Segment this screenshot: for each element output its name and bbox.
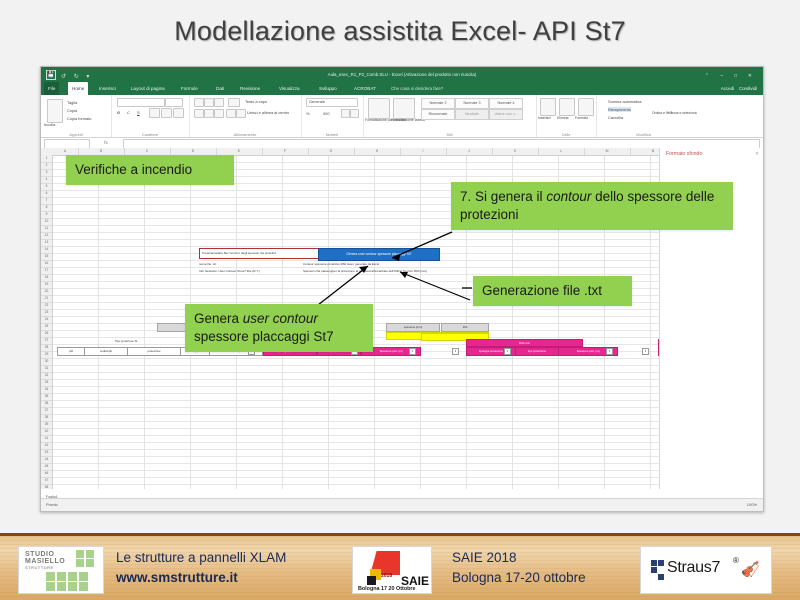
table-header-codice[interactable]: codice/pb	[84, 347, 128, 356]
decrease-indent-icon[interactable]	[226, 109, 236, 118]
group-label-modifica: Modifica	[596, 132, 691, 137]
sort-filter-icon[interactable]	[658, 98, 668, 108]
straus7-block-4	[658, 574, 664, 580]
ribbon-group-allineamento: Testo a capo Unisci e allinea al centro …	[189, 95, 302, 137]
insert-cells-icon[interactable]	[540, 98, 556, 116]
style-normale-3[interactable]: Normale 3	[455, 98, 489, 109]
bold-button[interactable]: G	[117, 110, 120, 115]
info-value: Spessori che plaveng/per la protezione a…	[303, 269, 523, 275]
font-name-box[interactable]	[117, 98, 165, 107]
format-painter-item[interactable]: Copia formato	[67, 116, 91, 121]
align-center-icon[interactable]	[204, 109, 214, 118]
callout-genera-suffix: spessore placcaggi St7	[194, 329, 334, 344]
ribbon-group-appunti: Incolla Taglia Copia Copia formato Appun…	[41, 95, 112, 137]
logo-square-9	[46, 582, 55, 591]
group-label-stili: Stili	[363, 132, 536, 137]
logo-square-4	[86, 559, 94, 567]
callout-genera-prefix: Genera	[194, 311, 243, 326]
info-label: Info Gestione: User Contour Strus7 File …	[199, 269, 294, 275]
delete-cells-icon[interactable]	[559, 98, 575, 116]
logo-square-11	[68, 582, 77, 591]
style-normale-2[interactable]: Normale 2	[421, 98, 455, 109]
column-header-k[interactable]: K	[492, 148, 539, 155]
format-cells-label[interactable]: Formato	[575, 116, 588, 120]
group-label-celle: Celle	[536, 132, 596, 137]
fx-label: fx	[91, 139, 121, 147]
excel-title-bar: 💾 ↺ ↻ ▾ Aula_esec_R1_P2_Comb.SLU - Excel…	[41, 67, 763, 82]
style-normale-4[interactable]: Normale 4	[489, 98, 523, 109]
align-top-icon[interactable]	[194, 98, 204, 107]
footer-left-line1: Le strutture a pannelli XLAM	[116, 548, 286, 568]
ribbon-body: Incolla Taglia Copia Copia formato Appun…	[41, 95, 763, 138]
decrease-decimal-icon[interactable]	[350, 109, 359, 118]
studio-logo-line2: MASIELLO	[25, 558, 65, 565]
page-title: Modellazione assistita Excel- API St7	[0, 16, 800, 47]
group-label-allineamento: Allineamento	[189, 132, 301, 137]
genera-contour-button[interactable]: Genera user contour spessore placcaggi S…	[318, 248, 440, 261]
straus7-registered: ®	[733, 556, 739, 565]
logo-square-12	[79, 582, 88, 591]
ribbon-group-modifica: Somma automatica Riempimento Cancella Or…	[596, 95, 691, 137]
column-header-i[interactable]: I	[400, 148, 447, 155]
autosum-item[interactable]: Somma automatica	[608, 99, 642, 104]
logo-square-5	[46, 572, 55, 581]
ribbon-group-numeri: Generale % 000 Numeri	[301, 95, 364, 137]
conditional-formatting-icon[interactable]	[368, 98, 390, 119]
tab-acrobat[interactable]: ACROBAT	[354, 82, 376, 95]
straus7-block-2	[658, 560, 664, 566]
column-header-c[interactable]: C	[124, 148, 171, 155]
fill-item[interactable]: Riempimento	[608, 107, 631, 112]
font-color-icon[interactable]	[173, 108, 184, 118]
format-as-table-icon[interactable]	[393, 98, 415, 119]
style-ricnormale[interactable]: Ricnormale	[421, 109, 455, 120]
find-select-label[interactable]: Trova e seleziona	[670, 111, 697, 115]
column-header-f[interactable]: F	[262, 148, 309, 155]
font-size-box[interactable]	[165, 98, 183, 107]
saie-logo: 2018 SAIE Bologna 17 20 Ottobre	[352, 546, 432, 594]
column-header-m[interactable]: M	[584, 148, 631, 155]
group-label-numeri: Numeri	[301, 132, 363, 137]
callout-genera-italic: user contour	[243, 311, 318, 326]
straus7-block-1	[651, 560, 657, 566]
footer-bar: STUDIO MASIELLO STRUTTURE Le strutture a…	[0, 533, 800, 600]
account-share[interactable]: Accedi Condividi	[721, 82, 757, 95]
ribbon-group-stili: Formattazione condizionale Formatta come…	[363, 95, 537, 137]
violin-icon: 🎻	[741, 560, 760, 578]
column-header-b[interactable]: B	[78, 148, 125, 155]
saie-black-square	[367, 576, 376, 585]
paste-icon[interactable]	[47, 99, 63, 123]
increase-decimal-icon[interactable]	[341, 109, 350, 118]
band-r30-left: R30 min	[466, 339, 583, 347]
close-icon[interactable]: ✕	[755, 151, 759, 157]
table-header-protezione[interactable]: protezione	[127, 347, 181, 356]
style-valore-non-valido[interactable]: Valore non v...	[489, 109, 523, 120]
straus7-block-3	[651, 567, 657, 573]
clear-item[interactable]: Cancella	[608, 115, 623, 120]
merge-center-item[interactable]: Unisci e allinea al centro	[247, 110, 289, 115]
studio-masiello-logo: STUDIO MASIELLO STRUTTURE	[18, 546, 104, 594]
style-neutrale[interactable]: Neutrale	[455, 109, 489, 120]
format-cells-icon[interactable]	[578, 98, 594, 116]
footer-center-line2: Bologna 17-20 ottobre	[452, 568, 586, 588]
filter-dropdown-6[interactable]: ▾	[606, 348, 613, 355]
footer-center-line1: SAIE 2018	[452, 548, 517, 568]
status-ready-label: Pronto	[46, 499, 58, 511]
callout-contour-step: 7. Si genera il contour dello spessore d…	[451, 182, 733, 230]
column-header-j[interactable]: J	[446, 148, 493, 155]
group-title-left: Tipo protezione St	[71, 339, 181, 345]
status-bar: Pronto 100%	[41, 498, 763, 511]
paste-label[interactable]: Incolla	[44, 122, 55, 127]
filter-dropdown-5[interactable]: ▾	[504, 348, 511, 355]
borders-icon[interactable]	[149, 108, 160, 118]
table-header-pfd[interactable]: pfd	[57, 347, 85, 356]
spessore-header-cell[interactable]: spessore [mm]	[386, 323, 440, 332]
orientation-icon[interactable]	[228, 98, 240, 107]
row-header-column: 1 2 3 4 5 6 7 8 9 10 11 12 13 14 15 16 1…	[41, 155, 53, 489]
column-header-l[interactable]: L	[538, 148, 585, 155]
tell-me-box[interactable]: Che cosa si desidera fare?	[391, 82, 443, 95]
column-header-a[interactable]: A	[52, 148, 79, 155]
copy-item[interactable]: Copia	[67, 108, 77, 113]
underline-button[interactable]: S	[137, 110, 140, 115]
filter-dropdown-7[interactable]: ▾	[642, 348, 649, 355]
callout-generazione-txt: Generazione file .txt	[473, 276, 632, 306]
group-label-carattere: Carattere	[111, 132, 189, 137]
callout-contour-prefix: 7. Si genera il	[460, 189, 546, 204]
number-format-value: Generale	[309, 99, 325, 104]
ribbon-group-carattere: G C S Carattere	[111, 95, 190, 137]
align-left-icon[interactable]	[194, 109, 204, 118]
callout-contour-italic: contour	[546, 189, 591, 204]
group-label-appunti: Appunti	[41, 132, 111, 137]
straus7-logo: Straus7 ® 🎻	[640, 546, 772, 594]
tab-inserisci[interactable]: Inserisci	[99, 82, 116, 95]
studio-logo-line1: STUDIO	[25, 551, 54, 558]
excel-window-screenshot: 💾 ↺ ↻ ▾ Aula_esec_R1_P2_Comb.SLU - Excel…	[40, 66, 764, 512]
tab-layout-pagina[interactable]: Layout di pagina	[131, 82, 165, 95]
studio-logo-line3: STRUTTURE	[25, 566, 54, 570]
row-header-48[interactable]: 48	[41, 484, 52, 489]
filename-label: nome file .txt:	[199, 262, 279, 268]
logo-square-7	[68, 572, 77, 581]
filter-dropdown-4[interactable]: ▾	[452, 348, 459, 355]
ribbon-group-celle: Inserisci Elimina Formato Celle	[536, 95, 597, 137]
logo-square-3	[76, 559, 84, 567]
search-icon[interactable]	[676, 98, 686, 108]
account-label[interactable]: Accedi	[721, 86, 734, 91]
callout-genera-user-contour: Genera user contour spessore placcaggi S…	[185, 304, 373, 352]
tab-formule[interactable]: Formule	[181, 82, 198, 95]
pink-r30-cell-2[interactable]: tipo protezione	[515, 347, 559, 356]
tab-visualizza[interactable]: Visualizza	[279, 82, 300, 95]
logo-square-1	[76, 550, 84, 558]
saie-year: 2018	[381, 573, 392, 579]
wrap-text-item[interactable]: Testo a capo	[245, 99, 267, 104]
column-header-e[interactable]: E	[216, 148, 263, 155]
fill-color-icon[interactable]	[161, 108, 172, 118]
tab-dati[interactable]: Dati	[216, 82, 224, 95]
zoom-level[interactable]: 100%	[747, 499, 757, 511]
logo-square-8	[79, 572, 88, 581]
contour-value: Contour spessore protettivo R60 steel, g…	[303, 262, 493, 268]
align-bottom-icon[interactable]	[214, 98, 224, 107]
logo-square-2	[86, 550, 94, 558]
column-header-h[interactable]: H	[354, 148, 401, 155]
format-as-table-label[interactable]: Formatta come tabella	[391, 118, 425, 122]
document-title: Aula_esec_R1_P2_Comb.SLU - Excel (Attiva…	[41, 67, 763, 82]
italic-button[interactable]: C	[127, 110, 130, 115]
logo-square-10	[57, 582, 66, 591]
tab-home[interactable]: Home	[68, 82, 88, 95]
cut-item[interactable]: Taglia	[67, 100, 77, 105]
insert-cells-label[interactable]: Inserisci	[538, 116, 551, 120]
increase-indent-icon[interactable]	[236, 109, 246, 118]
tab-file[interactable]: File	[44, 82, 59, 95]
percent-style-button[interactable]: %	[306, 111, 309, 116]
spessore-value-cell[interactable]: 100	[441, 323, 489, 332]
footer-left-line2[interactable]: www.smstrutture.it	[116, 568, 238, 588]
align-middle-icon[interactable]	[204, 98, 214, 107]
task-pane-title: Formato sfondo	[666, 151, 702, 157]
callout-verifiche-incendio: Verifiche a incendio	[66, 155, 234, 185]
tab-sviluppo[interactable]: Sviluppo	[319, 82, 337, 95]
straus7-name: Straus7	[667, 559, 720, 577]
comma-style-button[interactable]: 000	[323, 111, 330, 116]
logo-square-6	[57, 572, 66, 581]
ribbon-tab-bar: File Home Inserisci Layout di pagina For…	[41, 82, 763, 95]
delete-cells-label[interactable]: Elimina	[557, 116, 568, 120]
align-right-icon[interactable]	[214, 109, 224, 118]
column-header-d[interactable]: D	[170, 148, 217, 155]
share-label[interactable]: Condividi	[739, 86, 757, 91]
filter-dropdown-3[interactable]: ▾	[409, 348, 416, 355]
tab-revisione[interactable]: Revisione	[240, 82, 260, 95]
column-header-g[interactable]: G	[308, 148, 355, 155]
saie-subtitle: Bologna 17 20 Ottobre	[358, 586, 416, 592]
